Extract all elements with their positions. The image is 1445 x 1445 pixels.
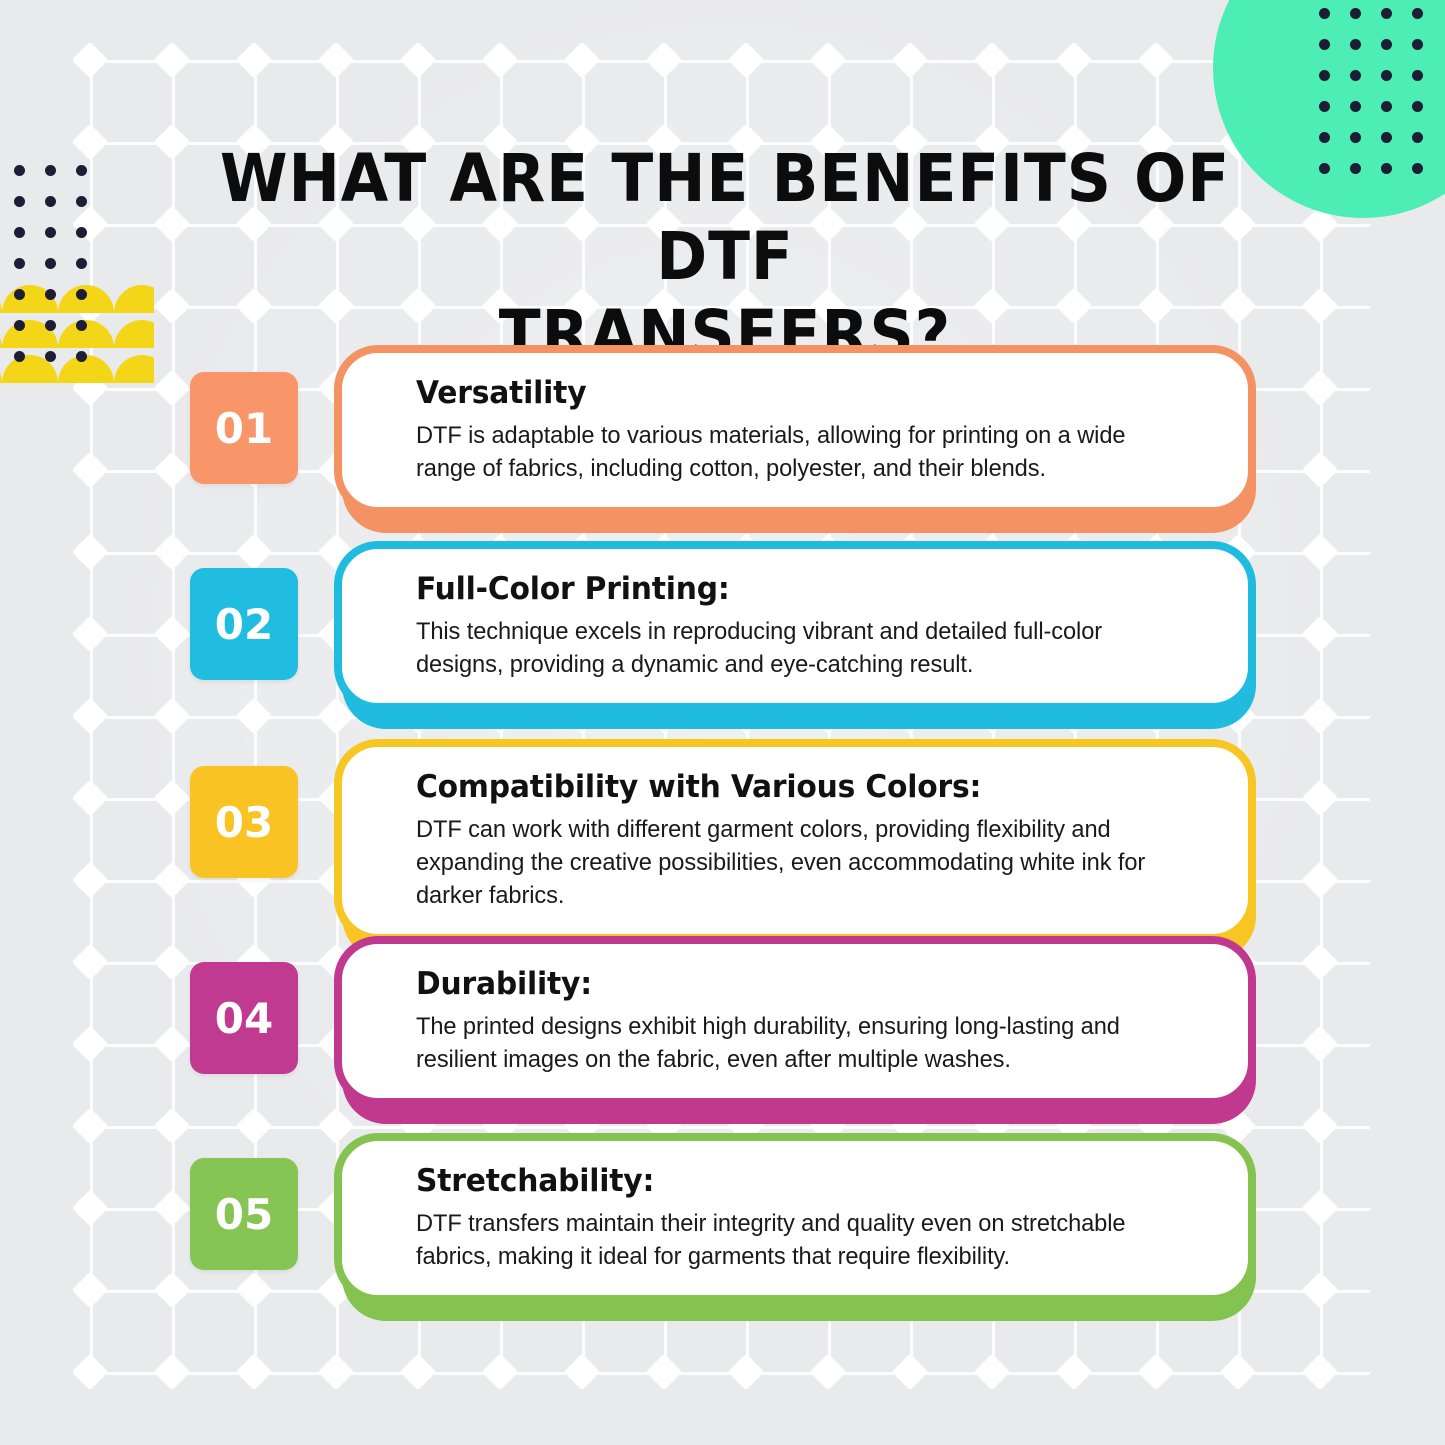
card-body: Durability:The printed designs exhibit h… xyxy=(334,936,1256,1106)
card-description: DTF transfers maintain their integrity a… xyxy=(416,1207,1190,1273)
card-number-badge: 03 xyxy=(190,766,298,878)
card-heading: Compatibility with Various Colors: xyxy=(416,767,1186,807)
card-body: Compatibility with Various Colors:DTF ca… xyxy=(334,739,1256,942)
benefit-card[interactable]: VersatilityDTF is adaptable to various m… xyxy=(334,345,1256,515)
benefit-card[interactable]: Compatibility with Various Colors:DTF ca… xyxy=(334,739,1256,942)
benefit-card[interactable]: Full-Color Printing:This technique excel… xyxy=(334,541,1256,711)
benefit-card[interactable]: Durability:The printed designs exhibit h… xyxy=(334,936,1256,1106)
card-description: DTF can work with different garment colo… xyxy=(416,813,1190,912)
card-number-badge: 05 xyxy=(190,1158,298,1270)
card-heading: Stretchability: xyxy=(416,1161,1186,1201)
card-number-badge: 02 xyxy=(190,568,298,680)
card-number-badge: 01 xyxy=(190,372,298,484)
card-body: VersatilityDTF is adaptable to various m… xyxy=(334,345,1256,515)
card-body: Full-Color Printing:This technique excel… xyxy=(334,541,1256,711)
card-heading: Durability: xyxy=(416,964,1186,1004)
benefit-card[interactable]: Stretchability:DTF transfers maintain th… xyxy=(334,1133,1256,1303)
benefits-card-list: 01VersatilityDTF is adaptable to various… xyxy=(0,0,1445,1445)
card-heading: Full-Color Printing: xyxy=(416,569,1186,609)
card-heading: Versatility xyxy=(416,373,1186,413)
card-number-badge: 04 xyxy=(190,962,298,1074)
card-description: DTF is adaptable to various materials, a… xyxy=(416,419,1190,485)
card-description: This technique excels in reproducing vib… xyxy=(416,615,1190,681)
card-description: The printed designs exhibit high durabil… xyxy=(416,1010,1190,1076)
infographic-canvas: WHAT ARE THE BENEFITS OF DTF TRANSFERS? … xyxy=(0,0,1445,1445)
card-body: Stretchability:DTF transfers maintain th… xyxy=(334,1133,1256,1303)
